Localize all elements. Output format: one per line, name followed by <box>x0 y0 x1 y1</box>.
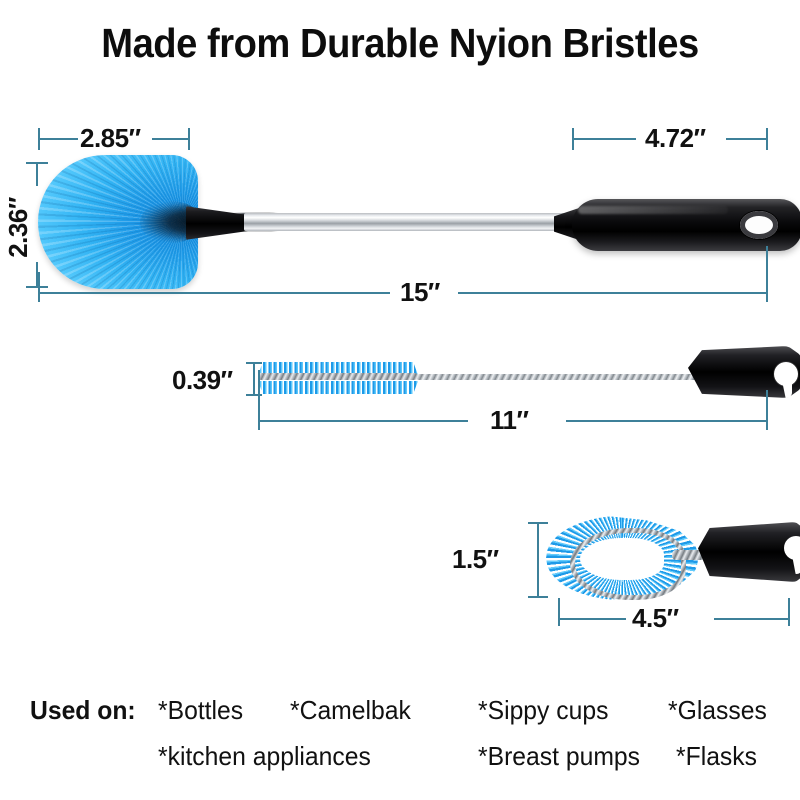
dim-ext-loop-left <box>558 598 560 626</box>
used-on-item-flasks: *Flasks <box>676 741 757 772</box>
used-on-item-camelbak: *Camelbak <box>290 695 411 726</box>
dim-line-straw-dia <box>253 362 255 396</box>
dim-ext-straw-right <box>766 390 768 430</box>
used-on-item-bottles: *Bottles <box>158 695 243 726</box>
used-on-section: Used on: *Bottles *Camelbak *Sippy cups … <box>0 695 800 781</box>
brush-ferrule <box>186 203 248 243</box>
used-on-row-1: Used on: *Bottles *Camelbak *Sippy cups … <box>0 695 800 735</box>
brush-handle-hang-hole <box>740 211 778 239</box>
dim-label-head-width: 2.85″ <box>80 123 141 154</box>
used-on-item-sippy-cups: *Sippy cups <box>478 695 608 726</box>
dim-line-straw-left <box>258 420 468 422</box>
used-on-label: Used on: <box>30 695 136 726</box>
dim-line-straw-right <box>566 420 768 422</box>
dim-ext-total-left <box>38 272 40 302</box>
long-bottle-brush-graphic <box>38 155 288 290</box>
dim-line-loop-right <box>714 618 790 620</box>
brush-steel-shaft <box>244 213 584 231</box>
dim-line-handle-left <box>574 138 636 140</box>
loop-brush-twisted-wire <box>570 528 686 600</box>
dim-line-total-right <box>458 292 768 294</box>
dim-line-total-left <box>38 292 390 294</box>
dim-label-loop-length: 4.5″ <box>632 603 679 634</box>
page-title: Made from Durable Nyion Bristles <box>28 20 772 67</box>
dim-line-head-width-left <box>40 138 78 140</box>
brush-head-bristles <box>38 155 198 289</box>
dim-label-total-length: 15″ <box>400 277 440 308</box>
used-on-row-2: *kitchen appliances *Breast pumps *Flask… <box>0 741 800 781</box>
dim-label-handle-length: 4.72″ <box>645 123 706 154</box>
used-on-item-breast-pumps: *Breast pumps <box>478 741 640 772</box>
dim-line-handle-right <box>726 138 768 140</box>
dim-label-head-height: 2.36″ <box>3 197 34 258</box>
used-on-item-kitchen-appliances: *kitchen appliances <box>158 741 371 772</box>
dim-label-straw-diameter: 0.39″ <box>172 365 233 396</box>
dim-line-loop-left <box>558 618 626 620</box>
dim-label-loop-height: 1.5″ <box>452 544 499 575</box>
dim-label-straw-length: 11″ <box>490 405 528 436</box>
straw-brush-core-wire <box>258 373 418 380</box>
dim-line-loop-height <box>537 522 539 598</box>
infographic-canvas: Made from Durable Nyion Bristles 2.85″ 2… <box>0 0 800 800</box>
dim-ext-loop-right <box>788 598 790 626</box>
loop-detail-brush-graphic <box>546 516 786 600</box>
dim-line-head-width-right <box>152 138 190 140</box>
used-on-item-glasses: *Glasses <box>668 695 767 726</box>
